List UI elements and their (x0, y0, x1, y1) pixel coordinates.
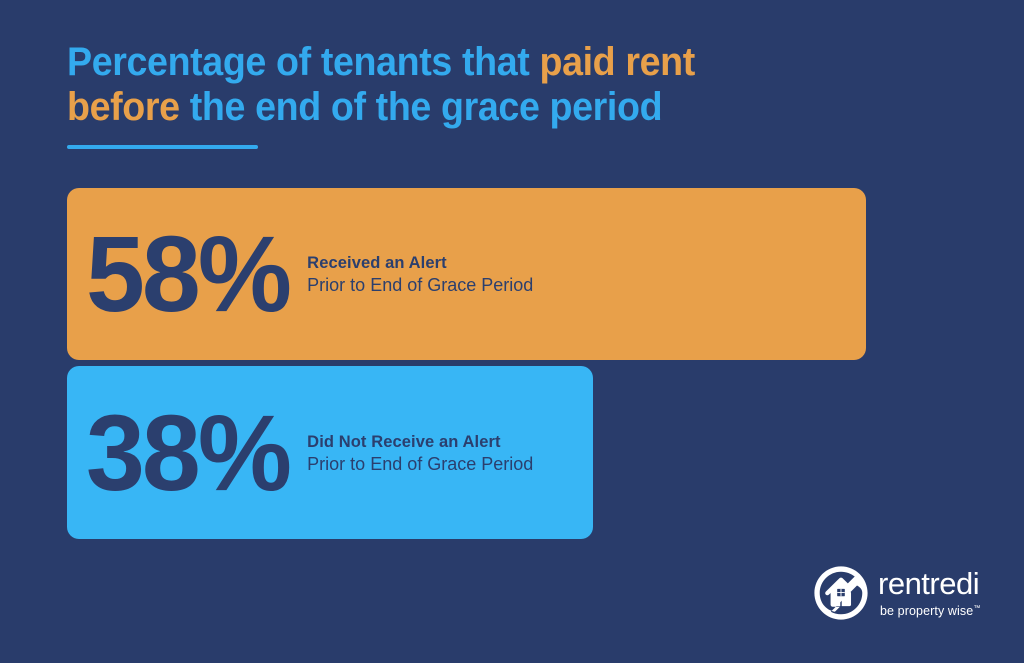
page-title: Percentage of tenants that paid rentbefo… (67, 40, 781, 130)
trademark-symbol: ™ (973, 605, 980, 612)
infographic-canvas: Percentage of tenants that paid rentbefo… (0, 0, 1024, 663)
stat-bar-no-alert: 38% Did Not Receive an Alert Prior to En… (67, 366, 593, 539)
title-line2-plain: the end of the grace period (180, 85, 663, 129)
title-underline-rule (67, 145, 258, 149)
stat-label-group: Did Not Receive an Alert Prior to End of… (307, 430, 533, 476)
logo-tagline-text: be property wise (880, 604, 973, 618)
logo-wordmark: rentredi (878, 568, 979, 599)
title-block: Percentage of tenants that paid rentbefo… (67, 40, 827, 130)
logo-text-block: rentredi be property wise™ (878, 568, 980, 618)
stat-bar-received-alert: 58% Received an Alert Prior to End of Gr… (67, 188, 866, 360)
stat-label-sub: Prior to End of Grace Period (307, 274, 533, 297)
rentredi-logo: rentredi be property wise™ (813, 562, 998, 624)
stat-label-group: Received an Alert Prior to End of Grace … (307, 251, 533, 297)
title-line1-highlight: paid rent (539, 40, 694, 84)
stat-percent-value: 38% (86, 399, 289, 507)
stat-label-main: Received an Alert (307, 253, 533, 274)
title-line2-highlight: before (67, 85, 180, 129)
stat-label-main: Did Not Receive an Alert (307, 432, 533, 453)
logo-tagline: be property wise™ (880, 602, 980, 618)
stat-percent-value: 58% (86, 220, 289, 328)
rentredi-circle-house-icon (813, 565, 869, 621)
stat-label-sub: Prior to End of Grace Period (307, 453, 533, 476)
title-line1-plain: Percentage of tenants that (67, 40, 539, 84)
